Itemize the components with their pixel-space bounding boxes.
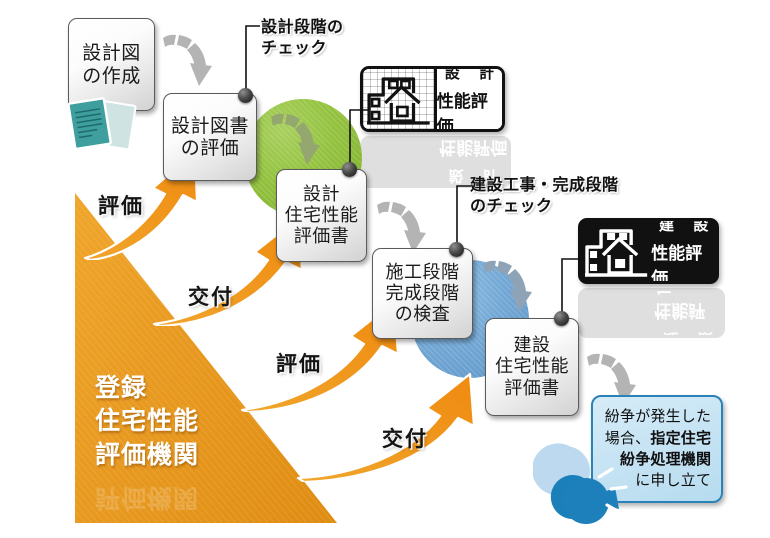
box-design-document-evaluation[interactable]: 設計図書 の評価 — [163, 93, 257, 181]
caption-delivery-2: 交付 — [382, 423, 428, 453]
caption-evaluation-1: 評価 — [98, 190, 144, 220]
construction-badge-reflection: 建 設 性能評価 — [578, 288, 725, 338]
grey-arrow-2 — [268, 108, 330, 170]
connector-dot-construction-report — [554, 311, 569, 326]
house-grid-icon — [363, 69, 437, 129]
design-evaluation-mark-badge: 設 計 性能評価 — [360, 66, 505, 132]
speech-burst-icon — [533, 443, 651, 535]
box-label: 設計図 の作成 — [82, 42, 141, 86]
construction-evaluation-mark-badge: 建 設 性能評価 — [578, 218, 719, 284]
connector-dot-construction-inspection — [449, 242, 464, 257]
diagram-canvas: 登録 住宅性能 評価機関 評価機関 — [0, 0, 770, 538]
badge-top-text: 設 計 — [438, 66, 501, 83]
dispute-line-1: 紛争が発生した — [605, 406, 711, 427]
badge-bottom-text: 性能評価 — [437, 87, 502, 133]
box-construction-stage-inspection[interactable]: 施工段階 完成段階 の検査 — [372, 248, 473, 339]
box-label: 建設 住宅性能 評価書 — [495, 335, 569, 398]
badge-top-text: 建 設 — [652, 218, 715, 235]
box-label: 設計 住宅性能 評価書 — [285, 184, 359, 247]
dispute-line-2-bold: 指定住宅 — [650, 429, 711, 447]
badge-bottom-text: 性能評価 — [651, 239, 716, 285]
grey-arrow-1 — [160, 29, 224, 91]
leader-line-design-badge — [340, 106, 370, 166]
box-design-housing-performance-report[interactable]: 設計 住宅性能 評価書 — [276, 169, 367, 262]
callout-design-stage-check: 設計段階の チェック — [261, 16, 344, 59]
house-solid-icon — [581, 221, 651, 281]
organization-label: 登録 住宅性能 評価機関 — [95, 371, 199, 471]
leader-line-construction-badge — [552, 255, 586, 317]
documents-icon — [62, 94, 140, 168]
caption-evaluation-2: 評価 — [276, 348, 322, 378]
organization-label-reflection: 評価機関 — [95, 481, 199, 514]
box-construction-housing-performance-report[interactable]: 建設 住宅性能 評価書 — [485, 318, 579, 416]
connector-dot-design-document-evaluation — [238, 88, 253, 103]
callout-construction-completion-check: 建設工事・完成段階 のチェック — [470, 174, 619, 217]
grey-arrow-4 — [480, 255, 542, 317]
leader-line-design-stage-check — [236, 22, 262, 98]
connector-dot-design-report — [342, 162, 357, 177]
box-label: 設計図書 の評価 — [171, 115, 249, 159]
caption-delivery-1: 交付 — [188, 281, 234, 311]
box-label: 施工段階 完成段階 の検査 — [386, 262, 460, 325]
